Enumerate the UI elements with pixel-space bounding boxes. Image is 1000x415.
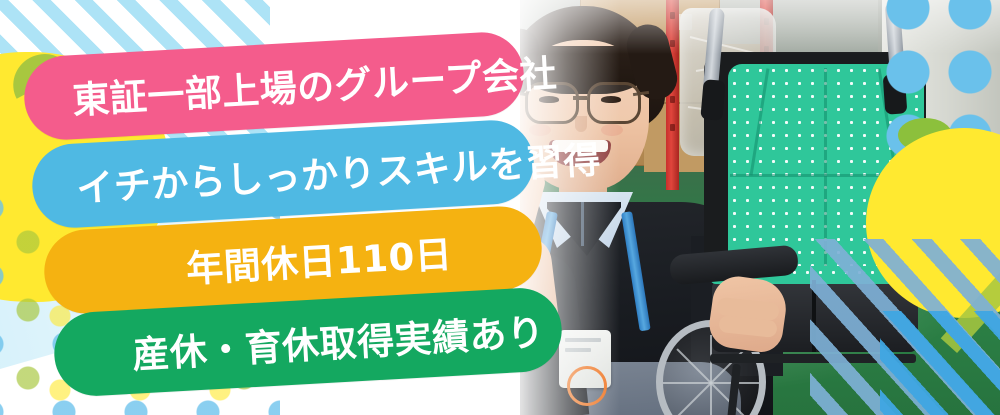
highlight-pill-label: 産休・育休取得実績あり	[53, 302, 546, 383]
highlight-pill-label: イチからしっかりスキルを習得	[31, 129, 602, 215]
highlight-pill-label: 年間休日110日	[43, 224, 454, 301]
highlight-pill-label: 東証一部上場のグループ会社	[23, 43, 558, 127]
recruitment-banner: 東証一部上場のグループ会社 イチからしっかりスキルを習得 年間休日110日 産休…	[0, 0, 1000, 415]
highlight-pill-list: 東証一部上場のグループ会社 イチからしっかりスキルを習得 年間休日110日 産休…	[0, 0, 1000, 415]
